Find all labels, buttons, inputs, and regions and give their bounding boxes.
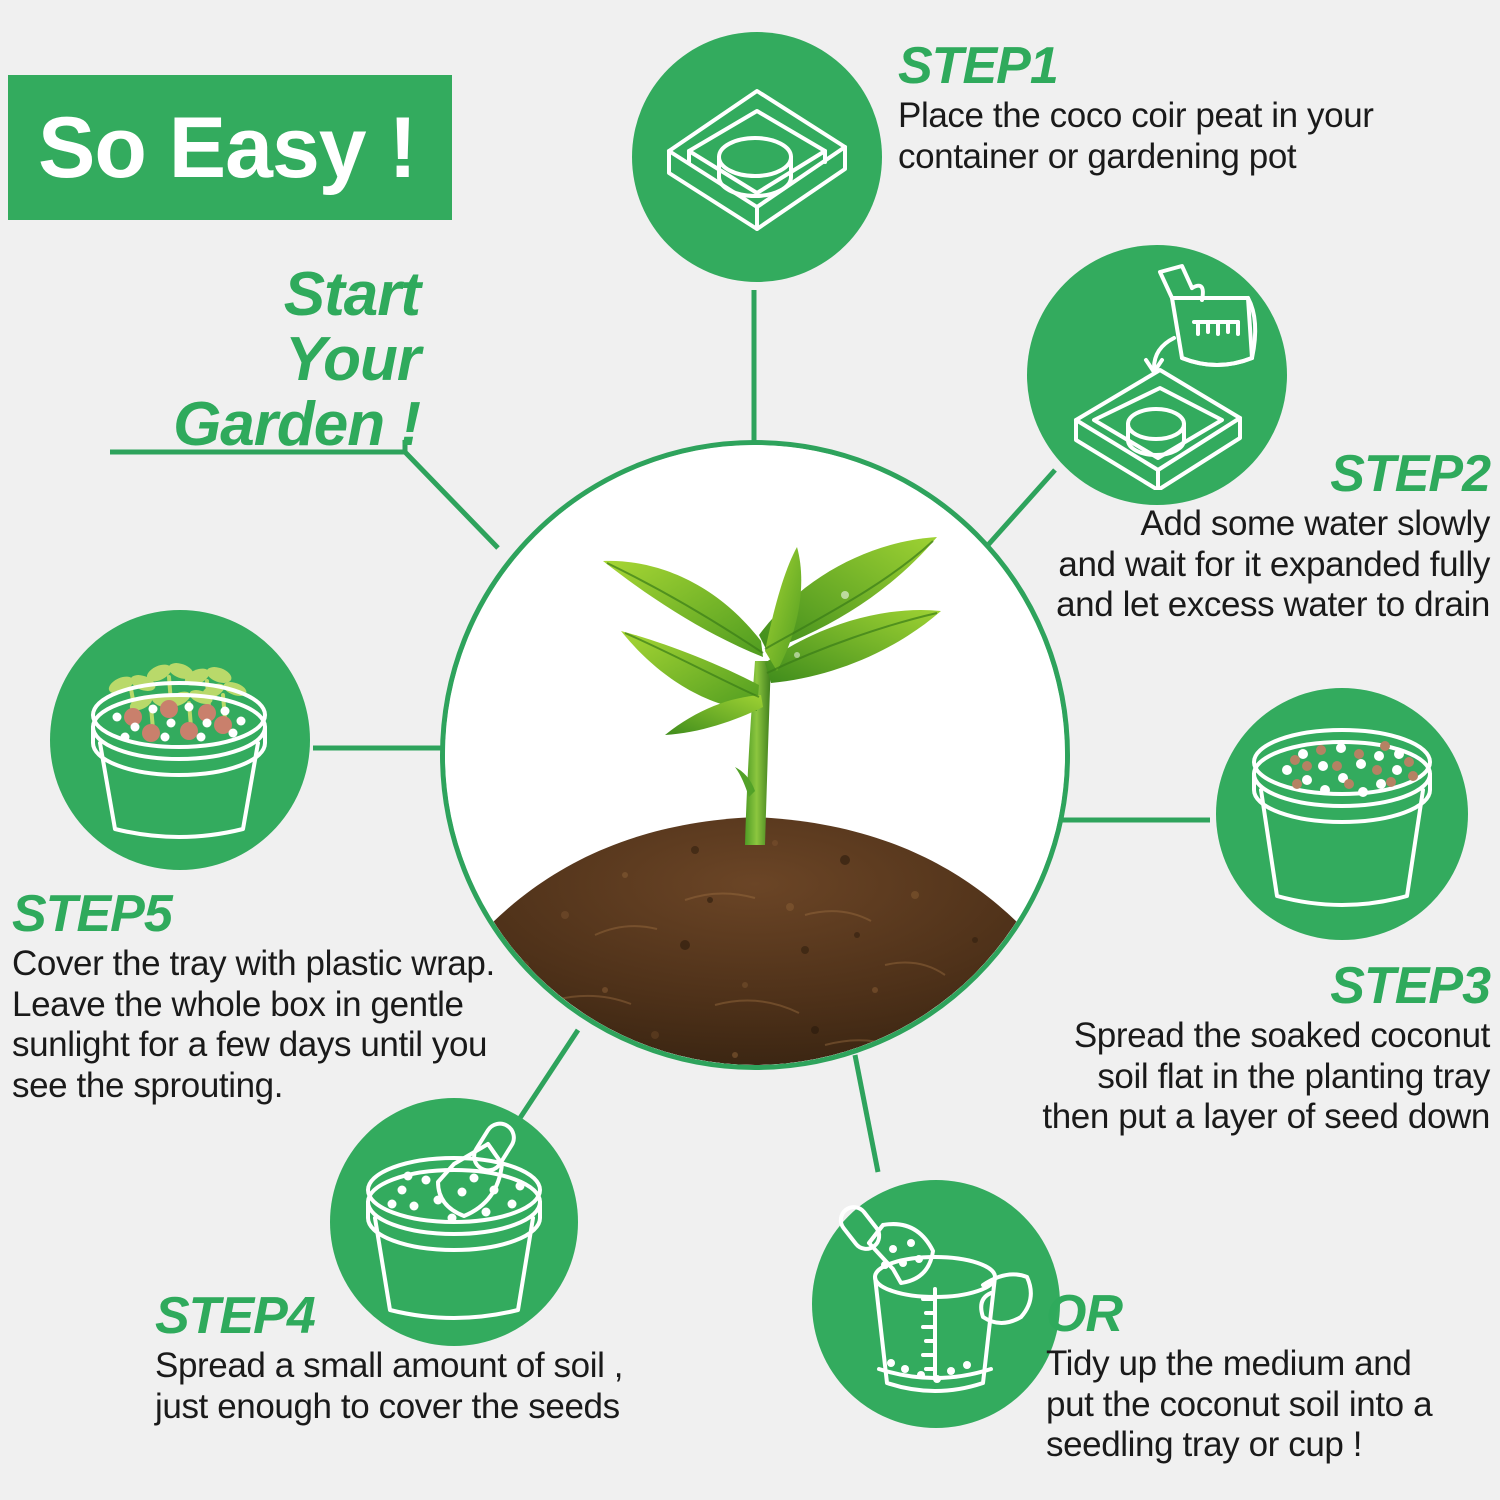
or-text-line-1: Tidy up the medium and	[1046, 1344, 1411, 1383]
infographic-canvas: So Easy ! Start Your Garden !	[0, 0, 1500, 1500]
step3-text-block: STEP3 Spread the soaked coconut soil fla…	[980, 960, 1490, 1138]
banner-title: So Easy !	[8, 105, 416, 191]
step2-text-block: STEP2 Add some water slowly and wait for…	[980, 448, 1490, 626]
step1-text-line-1: Place the coco coir peat in your	[898, 96, 1374, 135]
or-text-line-2: put the coconut soil into a	[1046, 1385, 1432, 1424]
or-text-block: OR Tidy up the medium and put the coconu…	[1046, 1288, 1476, 1466]
step5-text-line-1: Cover the tray with plastic wrap.	[12, 944, 495, 983]
step4-text-block: STEP4 Spread a small amount of soil , ju…	[155, 1290, 675, 1427]
step2-label: STEP2	[980, 448, 1490, 500]
hero-seedling-circle	[440, 440, 1070, 1070]
step1-text: Place the coco coir peat in your contain…	[898, 96, 1418, 177]
step5-icon-bubble	[50, 610, 310, 870]
connector-subhead-to-hero	[110, 452, 498, 548]
step3-text-line-2: soil flat in the planting tray	[1097, 1057, 1490, 1096]
step5-text-line-3: sunlight for a few days until you	[12, 1025, 487, 1064]
seedling-in-soil-photo	[445, 445, 1065, 1065]
or-icon-bubble	[812, 1180, 1060, 1428]
step2-text-line-3: and let excess water to drain	[1056, 585, 1490, 624]
step5-text-block: STEP5 Cover the tray with plastic wrap. …	[12, 888, 512, 1106]
headline-banner: So Easy !	[8, 75, 452, 220]
step2-text-line-1: Add some water slowly	[1140, 504, 1490, 543]
subheadline-line-1: Start	[120, 262, 420, 327]
step4-text-line-1: Spread a small amount of soil ,	[155, 1346, 623, 1385]
step5-text: Cover the tray with plastic wrap. Leave …	[12, 944, 512, 1106]
step5-text-line-2: Leave the whole box in gentle	[12, 985, 464, 1024]
step1-text-line-2: container or gardening pot	[898, 137, 1296, 176]
step3-text: Spread the soaked coconut soil flat in t…	[980, 1016, 1490, 1138]
step3-icon-bubble	[1216, 688, 1468, 940]
or-text: Tidy up the medium and put the coconut s…	[1046, 1344, 1476, 1466]
step3-label: STEP3	[980, 960, 1490, 1012]
pot-with-seeds-icon	[1237, 714, 1447, 914]
step5-text-line-4: see the sprouting.	[12, 1066, 283, 1105]
or-label: OR	[1046, 1288, 1476, 1340]
step3-text-line-1: Spread the soaked coconut	[1074, 1016, 1490, 1055]
step4-label: STEP4	[155, 1290, 675, 1342]
step5-label: STEP5	[12, 888, 512, 940]
subheadline-line-3: Garden !	[120, 392, 420, 457]
step1-label: STEP1	[898, 40, 1418, 92]
step4-text-line-2: just enough to cover the seeds	[155, 1387, 620, 1426]
step4-text: Spread a small amount of soil , just eno…	[155, 1346, 675, 1427]
step3-text-line-3: then put a layer of seed down	[1042, 1097, 1490, 1136]
tray-with-coir-puck-icon	[657, 67, 857, 247]
connector-or	[855, 1055, 878, 1172]
step1-text-block: STEP1 Place the coco coir peat in your c…	[898, 40, 1418, 177]
pot-with-sprouts-icon	[73, 633, 288, 848]
cup-with-trowel-and-wrap-icon	[831, 1199, 1041, 1409]
subheadline: Start Your Garden !	[120, 262, 420, 457]
or-text-line-3: seedling tray or cup !	[1046, 1425, 1362, 1464]
step2-text: Add some water slowly and wait for it ex…	[980, 504, 1490, 626]
step2-text-line-2: and wait for it expanded fully	[1058, 545, 1490, 584]
subheadline-line-2: Your	[120, 327, 420, 392]
step1-icon-bubble	[632, 32, 882, 282]
